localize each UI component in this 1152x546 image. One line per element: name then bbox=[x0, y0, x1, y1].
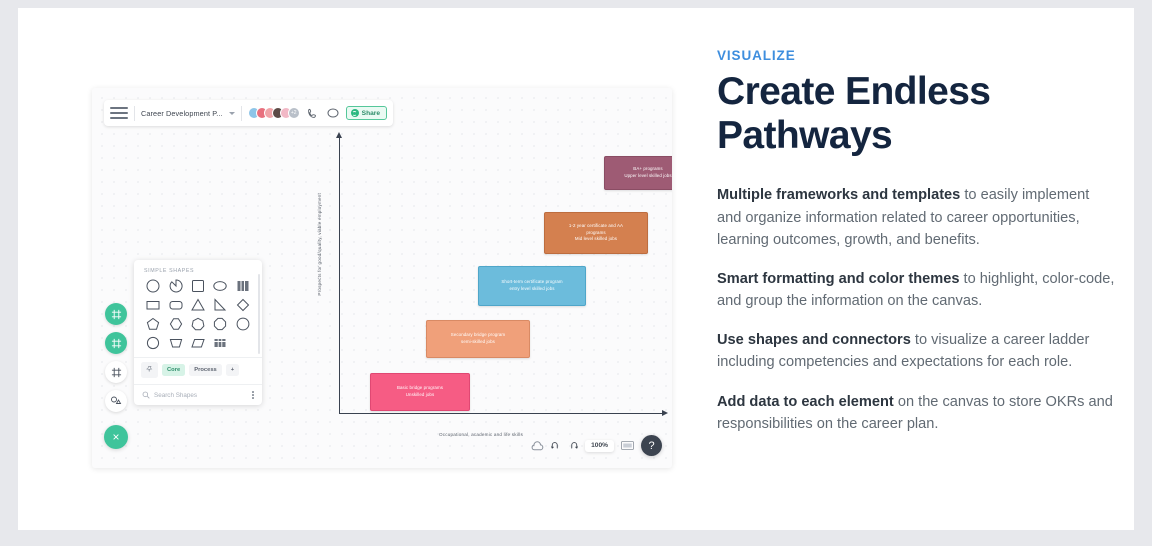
chart-x-axis-label: Occupational, academic and life skills bbox=[439, 432, 523, 437]
feature-paragraph-1: Multiple frameworks and templates to eas… bbox=[717, 184, 1115, 251]
shapes-search-row[interactable]: Search Shapes bbox=[134, 384, 262, 405]
shapes-panel: SIMPLE SHAPES bbox=[134, 260, 262, 405]
shape-rectangle[interactable] bbox=[146, 298, 160, 312]
globe-icon bbox=[351, 109, 359, 117]
shape-striped-rect[interactable] bbox=[236, 279, 250, 293]
chart-y-axis-label: Prospects for good/quality, viable emplo… bbox=[317, 193, 322, 296]
shapes-tab-add[interactable]: + bbox=[226, 364, 239, 376]
node-label-line2: entry level skilled jobs bbox=[509, 286, 554, 293]
avatar-group[interactable]: +2 bbox=[248, 107, 300, 119]
fit-screen-icon[interactable] bbox=[621, 441, 634, 450]
close-icon[interactable]: × bbox=[104, 425, 128, 449]
node-short-term[interactable]: Short-term certificate program entry lev… bbox=[478, 266, 586, 306]
canvas-bottom-controls: 100% ? bbox=[531, 435, 662, 456]
shapes-grid bbox=[134, 279, 262, 357]
shape-ellipse[interactable] bbox=[213, 279, 227, 293]
zoom-level[interactable]: 100% bbox=[585, 440, 614, 452]
more-vertical-icon[interactable] bbox=[252, 391, 254, 399]
hamburger-icon[interactable] bbox=[110, 106, 128, 120]
feature-paragraph-4: Add data to each element on the canvas t… bbox=[717, 391, 1115, 435]
cloud-save-icon[interactable] bbox=[531, 441, 544, 451]
shape-pentagon[interactable] bbox=[146, 317, 160, 331]
share-button-label: Share bbox=[362, 110, 380, 117]
document-title[interactable]: Career Development P... bbox=[141, 109, 223, 118]
feature-paragraph-3: Use shapes and connectors to visualize a… bbox=[717, 329, 1115, 373]
chart-x-axis bbox=[339, 413, 664, 414]
feature-lead-4: Add data to each element bbox=[717, 394, 894, 410]
undo-icon[interactable] bbox=[551, 441, 561, 450]
shape-partial-circle[interactable] bbox=[169, 279, 183, 293]
shape-table-grid[interactable] bbox=[213, 336, 227, 350]
comment-icon[interactable] bbox=[326, 106, 340, 120]
node-label-line1: Secondary bridge program bbox=[451, 332, 505, 339]
feature-lead-1: Multiple frameworks and templates bbox=[717, 187, 960, 203]
frame-tool-2[interactable] bbox=[105, 332, 127, 354]
left-tool-rail: × bbox=[104, 303, 128, 449]
shape-diamond[interactable] bbox=[236, 298, 250, 312]
shape-square[interactable] bbox=[191, 279, 205, 293]
marketing-copy: VISUALIZE Create Endless Pathways Multip… bbox=[717, 48, 1115, 452]
app-toolbar: Career Development P... +2 bbox=[104, 100, 393, 126]
node-label-line2: semi-skilled jobs bbox=[461, 339, 495, 346]
toolbar-divider-2 bbox=[241, 106, 242, 121]
node-label-line1: BA+ programs bbox=[633, 166, 662, 173]
node-label-line3: Mid level skilled jobs bbox=[575, 236, 617, 243]
page-title: Create Endless Pathways bbox=[717, 70, 1115, 157]
shape-rounded-rect[interactable] bbox=[169, 298, 183, 312]
node-label-line2: programs bbox=[586, 230, 605, 237]
shape-nonagon[interactable] bbox=[236, 317, 250, 331]
shapes-panel-tabs: Core Process + bbox=[134, 357, 262, 384]
phone-icon[interactable] bbox=[306, 106, 320, 120]
avatar-overflow-count[interactable]: +2 bbox=[288, 107, 300, 119]
node-mid-level[interactable]: 1-2 year certificate and AA programs Mid… bbox=[544, 212, 648, 254]
shape-circle[interactable] bbox=[146, 279, 160, 293]
app-screenshot: Career Development P... +2 bbox=[92, 88, 672, 468]
node-secondary[interactable]: Secondary bridge program semi-skilled jo… bbox=[426, 320, 530, 358]
node-label-line1: 1-2 year certificate and AA bbox=[569, 223, 623, 230]
shape-parallelogram[interactable] bbox=[191, 336, 205, 350]
shapes-tab-core[interactable]: Core bbox=[162, 364, 185, 376]
node-label-line2: Unskilled jobs bbox=[406, 392, 435, 399]
shape-circle-2[interactable] bbox=[146, 336, 160, 350]
pin-icon[interactable] bbox=[141, 362, 158, 378]
shapes-panel-title: SIMPLE SHAPES bbox=[134, 260, 262, 279]
feature-lead-2: Smart formatting and color themes bbox=[717, 271, 959, 287]
chevron-down-icon[interactable] bbox=[229, 112, 235, 115]
node-basic[interactable]: Basic bridge programs Unskilled jobs bbox=[370, 373, 470, 411]
shape-triangle[interactable] bbox=[191, 298, 205, 312]
share-button[interactable]: Share bbox=[346, 106, 387, 120]
shape-heptagon[interactable] bbox=[191, 317, 205, 331]
chart-y-axis bbox=[339, 136, 340, 414]
frame-tool-1[interactable] bbox=[105, 303, 127, 325]
shapes-panel-scrollbar[interactable] bbox=[258, 274, 260, 354]
search-icon bbox=[142, 391, 150, 399]
node-label-line2: Upper level skilled jobs bbox=[624, 173, 671, 180]
shape-hexagon[interactable] bbox=[169, 317, 183, 331]
redo-icon[interactable] bbox=[568, 441, 578, 450]
node-upper-level[interactable]: BA+ programs Upper level skilled jobs bbox=[604, 156, 672, 190]
page-card: Career Development P... +2 bbox=[18, 8, 1134, 530]
eyebrow-label: VISUALIZE bbox=[717, 48, 1115, 63]
shape-octagon[interactable] bbox=[213, 317, 227, 331]
node-label-line1: Short-term certificate program bbox=[501, 279, 562, 286]
shapes-tab-process[interactable]: Process bbox=[189, 364, 222, 376]
toolbar-divider bbox=[134, 106, 135, 121]
shapes-tool[interactable] bbox=[105, 390, 127, 412]
shape-right-triangle[interactable] bbox=[213, 298, 227, 312]
frame-tool-3[interactable] bbox=[105, 361, 127, 383]
search-shapes-input[interactable]: Search Shapes bbox=[154, 392, 248, 399]
node-label-line1: Basic bridge programs bbox=[397, 385, 443, 392]
help-button[interactable]: ? bbox=[641, 435, 662, 456]
feature-paragraph-2: Smart formatting and color themes to hig… bbox=[717, 268, 1115, 312]
feature-lead-3: Use shapes and connectors bbox=[717, 332, 911, 348]
shape-trapezoid[interactable] bbox=[169, 336, 183, 350]
